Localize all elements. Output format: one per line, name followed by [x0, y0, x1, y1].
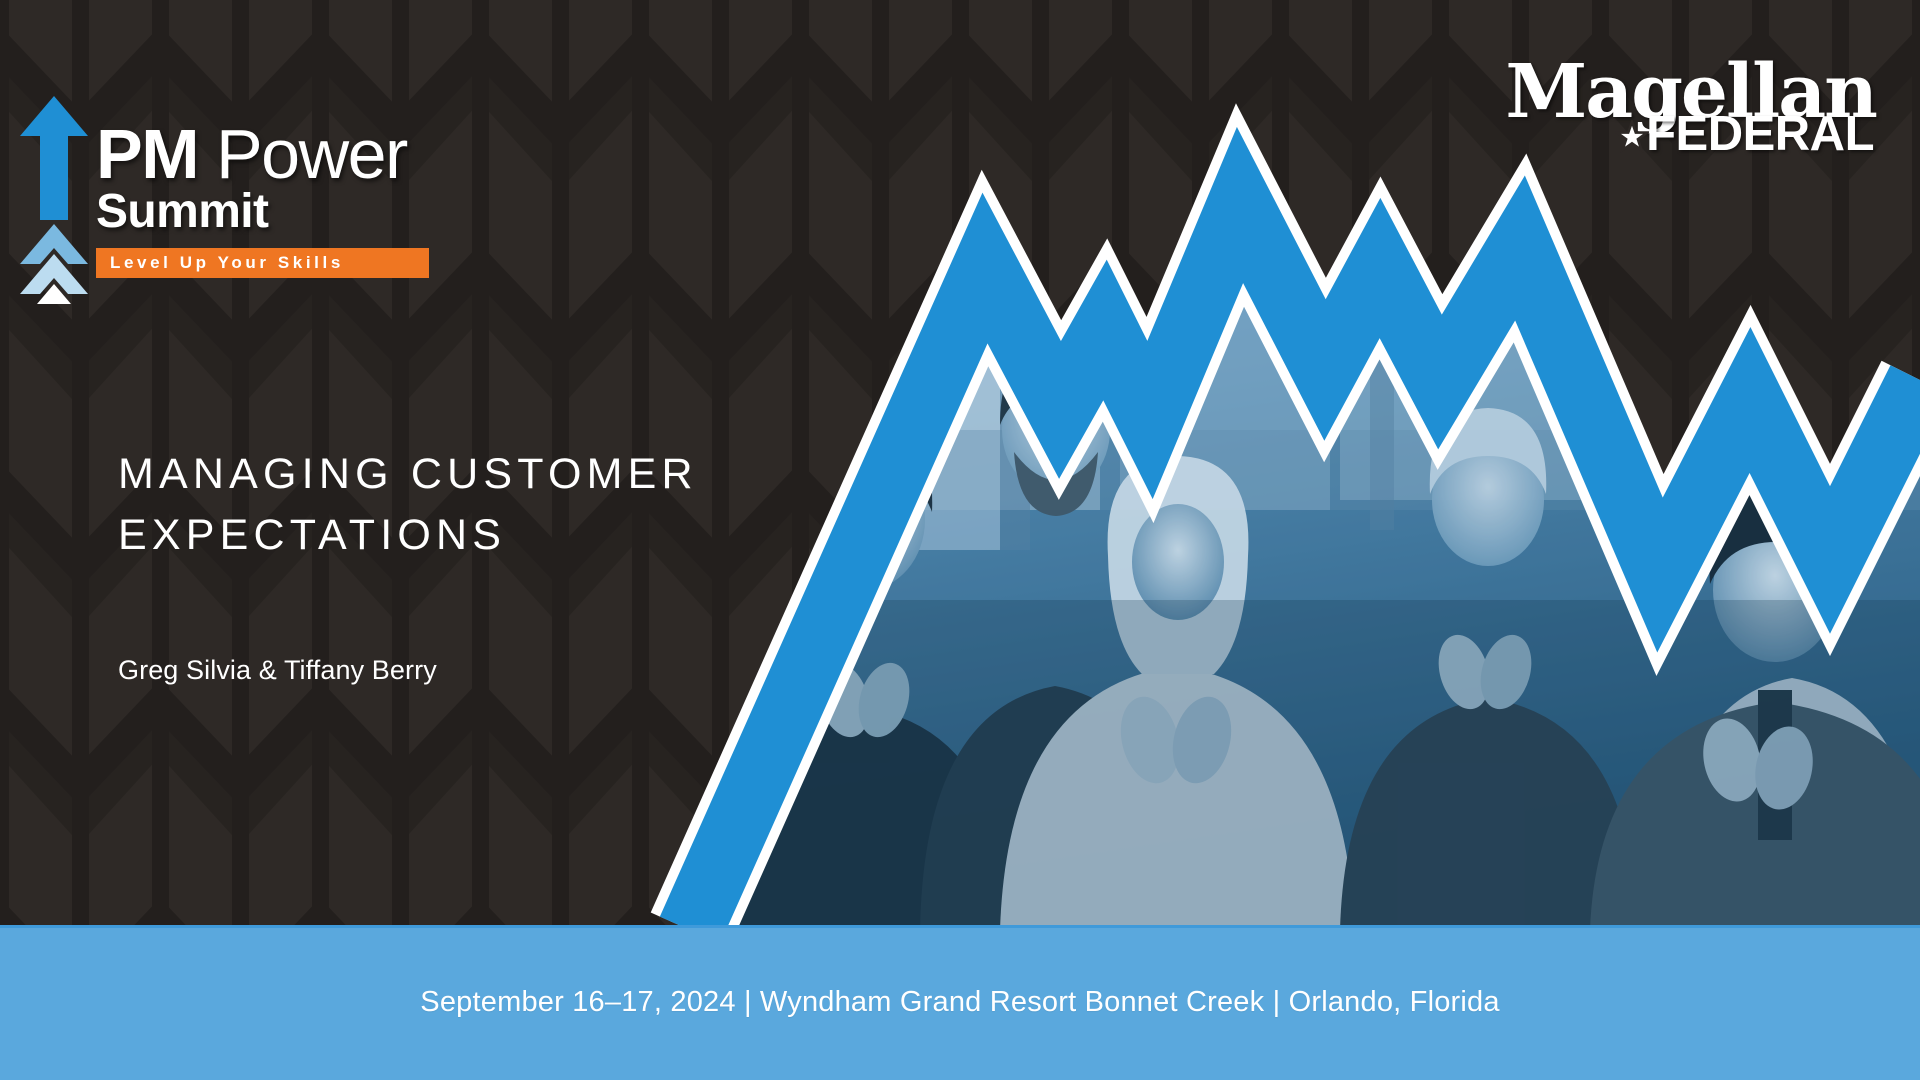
- star-icon: [1615, 120, 1649, 154]
- logo-tagline-bar: Level Up Your Skills: [96, 248, 429, 278]
- pm-power-summit-logo: PM Power Summit Level Up Your Skills: [18, 92, 429, 304]
- up-arrow-chevron-stack-icon: [18, 92, 90, 304]
- footer-event-details: September 16–17, 2024 | Wyndham Grand Re…: [420, 986, 1499, 1019]
- page-title: MANAGING CUSTOMER EXPECTATIONS: [118, 444, 698, 566]
- brand-division: FEDERAL: [1646, 110, 1874, 159]
- magellan-federal-logo: Magellan FEDERAL: [1505, 58, 1876, 159]
- logo-tagline-text: Level Up Your Skills: [110, 253, 344, 273]
- footer-banner: September 16–17, 2024 | Wyndham Grand Re…: [0, 925, 1920, 1080]
- logo-title-line1: PM Power: [96, 122, 429, 186]
- logo-power: Power: [216, 115, 407, 193]
- page-title-line1: MANAGING CUSTOMER: [118, 450, 698, 498]
- footer-top-rule: [0, 925, 1920, 928]
- logo-title-line2: Summit: [96, 188, 429, 236]
- presenter-names: Greg Silvia & Tiffany Berry: [118, 655, 437, 686]
- logo-pm: PM: [96, 115, 198, 193]
- title-slide: PM Power Summit Level Up Your Skills MAN…: [0, 0, 1920, 1080]
- page-title-line2: EXPECTATIONS: [118, 505, 698, 566]
